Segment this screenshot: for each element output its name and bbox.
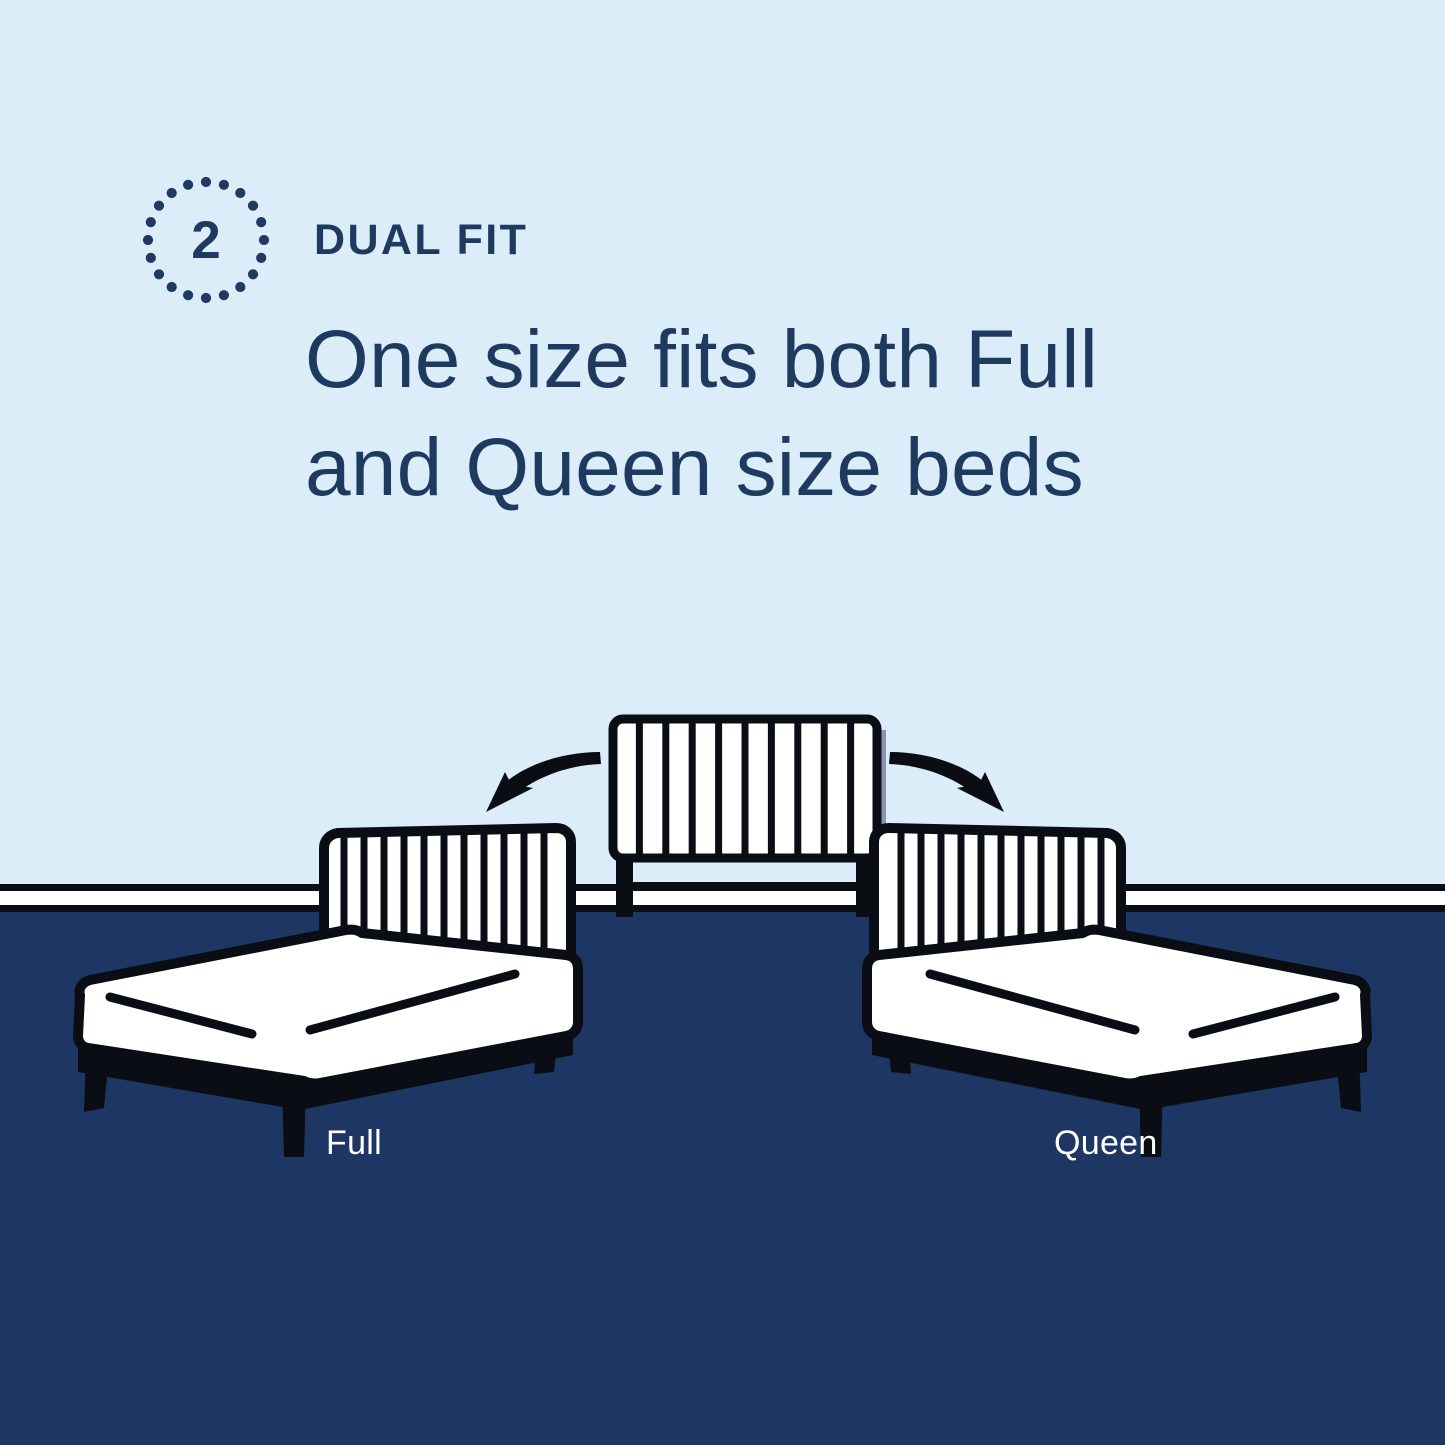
center-headboard-rail xyxy=(616,882,873,891)
arrow-to-queen-bed xyxy=(889,752,1004,812)
eyebrow-heading: DUAL FIT xyxy=(314,216,528,265)
badge-and-eyebrow-row: 2 DUAL FIT xyxy=(142,176,528,304)
full-bed xyxy=(78,828,578,1157)
headline-line-2: and Queen size beds xyxy=(305,414,1305,522)
center-headboard-group xyxy=(613,719,886,917)
headline: One size fits both Full and Queen size b… xyxy=(305,306,1305,522)
step-number-badge: 2 xyxy=(142,176,270,304)
bed-label-full: Full xyxy=(326,1124,382,1163)
bed-label-queen: Queen xyxy=(1054,1124,1158,1163)
full-bed-leg-front-center xyxy=(282,1082,306,1157)
queen-bed-leg-front-right xyxy=(1335,1046,1361,1112)
headline-line-1: One size fits both Full xyxy=(305,306,1305,414)
queen-bed xyxy=(867,828,1367,1157)
arrow-to-full-bed xyxy=(486,752,601,812)
step-number-text: 2 xyxy=(142,176,270,304)
full-bed-leg-front-left xyxy=(84,1046,110,1112)
infographic-panel: Full Queen xyxy=(0,0,1445,1445)
